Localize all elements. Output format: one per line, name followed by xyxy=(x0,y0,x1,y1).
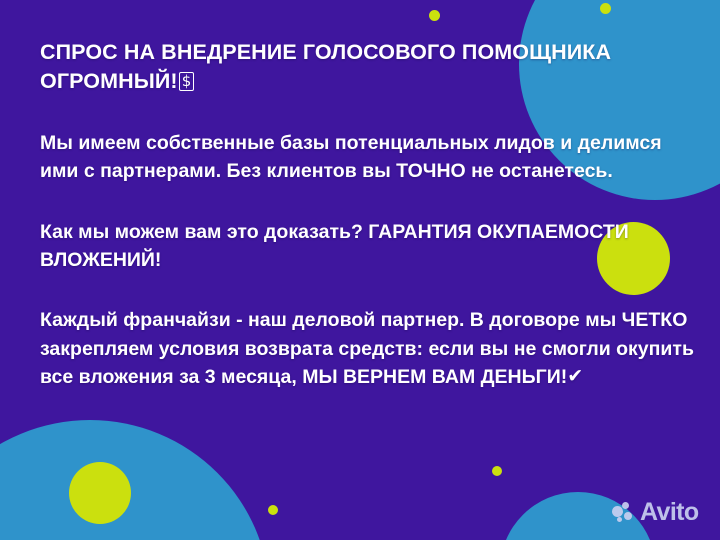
poster-content: СПРОС НА ВНЕДРЕНИЕ ГОЛОСОВОГО ПОМОЩНИКА … xyxy=(40,38,700,391)
headline-text: СПРОС НА ВНЕДРЕНИЕ ГОЛОСОВОГО ПОМОЩНИКА … xyxy=(40,40,611,93)
decorative-dot-bottom-middle xyxy=(268,505,278,515)
poster-headline: СПРОС НА ВНЕДРЕНИЕ ГОЛОСОВОГО ПОМОЩНИКА … xyxy=(40,38,700,95)
decorative-dot-bottom-right xyxy=(492,466,502,476)
decorative-circle-yellow-bottom-left xyxy=(69,462,131,524)
paragraph-leads: Мы имеем собственные базы потенциальных … xyxy=(40,129,700,186)
promo-poster: СПРОС НА ВНЕДРЕНИЕ ГОЛОСОВОГО ПОМОЩНИКА … xyxy=(0,0,720,540)
avito-dots-icon xyxy=(612,502,635,523)
banknote-emoji: $ xyxy=(179,72,195,91)
decorative-circle-blue-bottom-left xyxy=(0,420,270,540)
avito-wordmark: Avito xyxy=(640,500,699,525)
decorative-dot-top-left xyxy=(429,10,440,21)
paragraph-guarantee-text: Как мы можем вам это доказать? ГАРАНТИЯ … xyxy=(40,221,629,271)
paragraph-guarantee: Как мы можем вам это доказать? ГАРАНТИЯ … xyxy=(40,218,700,275)
paragraph-leads-text: Мы имеем собственные базы потенциальных … xyxy=(40,132,662,182)
check-mark-emoji: ✔ xyxy=(567,363,583,391)
decorative-dot-top-right xyxy=(600,3,611,14)
avito-logo: Avito xyxy=(612,500,699,525)
paragraph-refund-text: Каждый франчайзи - наш деловой партнер. … xyxy=(40,309,694,388)
paragraph-refund: Каждый франчайзи - наш деловой партнер. … xyxy=(40,306,700,391)
